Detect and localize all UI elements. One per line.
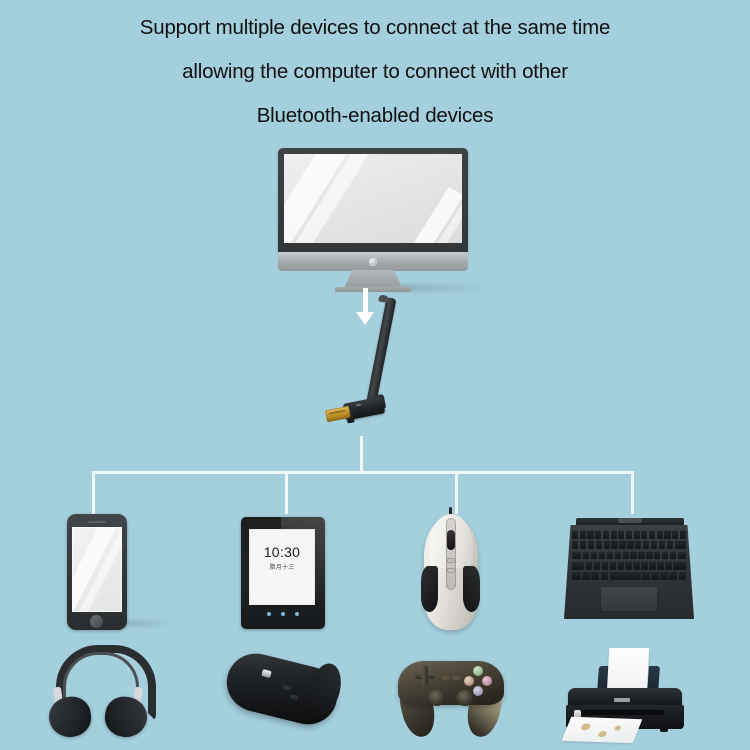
keyboard-key [662, 551, 668, 560]
keyboard-key [664, 530, 670, 539]
keyboard-key [595, 530, 601, 539]
keyboard-key [638, 551, 644, 560]
connector-bus [92, 471, 634, 474]
device-mouse [416, 508, 486, 630]
keyboard-key [599, 551, 605, 560]
device-printer [562, 648, 692, 742]
keyboard-key [643, 540, 649, 549]
connector-trunk [360, 436, 363, 473]
mouse-grip-right [463, 566, 480, 612]
phone-body [67, 514, 127, 630]
gamepad-face-button-square [464, 676, 474, 686]
printed-mark-1 [580, 723, 592, 730]
printed-mark-2 [597, 731, 607, 737]
tablet-nav-dot-1 [267, 612, 271, 616]
monitor-power-indicator-icon [369, 258, 377, 266]
keyboard-key-field [572, 530, 686, 580]
phone-shadow [119, 620, 173, 627]
device-gamepad [390, 655, 512, 739]
keyboard-hinge-tab [618, 518, 642, 523]
tablet-nav-dot-2 [281, 612, 285, 616]
keyboard-key [580, 540, 586, 549]
keyboard-key [678, 551, 686, 560]
device-speaker [226, 652, 342, 734]
keyboard-key-row [572, 530, 686, 539]
keyboard-key [618, 530, 624, 539]
keyboard-key [625, 561, 631, 570]
keyboard-key [660, 571, 667, 580]
gamepad-start-button [452, 676, 460, 680]
keyboard-key [659, 540, 665, 549]
adapter-antenna [366, 297, 396, 405]
keyboard-key [649, 561, 655, 570]
keyboard-key [635, 540, 641, 549]
mouse-scroll-wheel [447, 530, 455, 550]
keyboard-key [596, 540, 602, 549]
connector-drop-1 [92, 471, 95, 514]
gamepad-dpad-vertical [422, 666, 428, 686]
desktop-monitor [278, 148, 468, 283]
monitor-screen [284, 154, 462, 243]
keyboard-key [623, 551, 629, 560]
keyboard-trackpad [600, 586, 658, 612]
device-headphones [50, 645, 146, 737]
connector-drop-2 [285, 471, 288, 514]
tablet-camera-icon [281, 522, 284, 525]
keyboard-key [649, 530, 655, 539]
keyboard-key [572, 540, 578, 549]
tablet-clock: 10:30 [249, 544, 315, 560]
keyboard-key [610, 561, 616, 570]
product-infographic: Support multiple devices to connect at t… [0, 0, 750, 750]
keyboard-key [572, 551, 581, 560]
keyboard-key [680, 530, 686, 539]
keyboard-key [627, 540, 633, 549]
tablet-date: 腊月十三 [249, 562, 315, 571]
keyboard-key [611, 540, 617, 549]
device-smartphone [67, 514, 127, 630]
printed-mark-3 [614, 725, 622, 730]
mouse-dpi-button-1 [447, 558, 455, 563]
keyboard-key-row [572, 571, 686, 580]
phone-earpiece-icon [88, 521, 106, 523]
keyboard-key [591, 551, 597, 560]
keyboard-key [657, 561, 663, 570]
keyboard-key [646, 551, 652, 560]
printer-output-paper [562, 717, 643, 743]
printer-foot-right [660, 728, 668, 732]
keyboard-key [601, 571, 608, 580]
keyboard-key [572, 530, 578, 539]
keyboard-key [669, 571, 676, 580]
keyboard-key [679, 571, 686, 580]
phone-home-button [90, 615, 103, 628]
usb-bluetooth-adapter [326, 296, 398, 436]
headline: Support multiple devices to connect at t… [0, 6, 750, 138]
keyboard-key [667, 540, 673, 549]
keyboard-key [572, 561, 584, 570]
keyboard-key [610, 571, 641, 580]
monitor-stand-neck [344, 270, 402, 288]
keyboard-key [651, 540, 657, 549]
keyboard-key [673, 561, 686, 570]
printer-brand-badge [614, 698, 630, 702]
keyboard-key [603, 530, 609, 539]
keyboard-key-row [572, 561, 686, 570]
tablet-screen: 10:30 腊月十三 [249, 529, 315, 605]
keyboard-key [582, 571, 589, 580]
device-keyboard [560, 518, 698, 622]
keyboard-key [615, 551, 621, 560]
keyboard-key-row [572, 551, 686, 560]
connector-drop-4 [631, 471, 634, 514]
printer-output-slot [578, 710, 664, 715]
keyboard-key [657, 530, 663, 539]
tablet-nav-dot-3 [295, 612, 299, 616]
phone-screen [72, 527, 122, 612]
keyboard-key [651, 571, 658, 580]
keyboard-key [641, 530, 647, 539]
keyboard-key [630, 551, 636, 560]
gamepad-stick-right [456, 690, 474, 706]
device-tablet: 10:30 腊月十三 [241, 517, 325, 629]
keyboard-key [670, 551, 676, 560]
keyboard-key [642, 571, 649, 580]
keyboard-key [594, 561, 600, 570]
keyboard-key-row [572, 540, 686, 549]
headline-line-1: Support multiple devices to connect at t… [0, 6, 750, 50]
keyboard-key [654, 551, 660, 560]
keyboard-key [588, 540, 594, 549]
mouse-grip-left [421, 566, 438, 612]
gamepad-face-button-circle [482, 676, 492, 686]
gamepad-face-button-cross [473, 686, 483, 696]
keyboard-key [611, 530, 617, 539]
keyboard-key [572, 571, 581, 580]
adapter-antenna-cap [378, 294, 389, 303]
keyboard-key [634, 530, 640, 539]
keyboard-key [665, 561, 671, 570]
keyboard-key [672, 530, 678, 539]
keyboard-key [607, 551, 613, 560]
keyboard-key [591, 571, 598, 580]
mouse-dpi-button-2 [447, 568, 455, 573]
keyboard-key [580, 530, 586, 539]
monitor-bezel [278, 148, 468, 253]
keyboard-key [633, 561, 639, 570]
headline-line-2: allowing the computer to connect with ot… [0, 50, 750, 94]
headline-line-3: Bluetooth-enabled devices [0, 94, 750, 138]
gamepad-select-button [441, 676, 449, 680]
keyboard-key [602, 561, 608, 570]
keyboard-key [587, 530, 593, 539]
keyboard-key [583, 551, 589, 560]
keyboard-key [626, 530, 632, 539]
keyboard-key [641, 561, 647, 570]
gamepad-face-button-triangle [473, 666, 483, 676]
mouse-wheel-channel [446, 518, 456, 590]
keyboard-key [604, 540, 610, 549]
gamepad-stick-left [428, 690, 446, 706]
keyboard-key [618, 561, 624, 570]
keyboard-key [619, 540, 625, 549]
keyboard-key [586, 561, 592, 570]
keyboard-key [675, 540, 686, 549]
